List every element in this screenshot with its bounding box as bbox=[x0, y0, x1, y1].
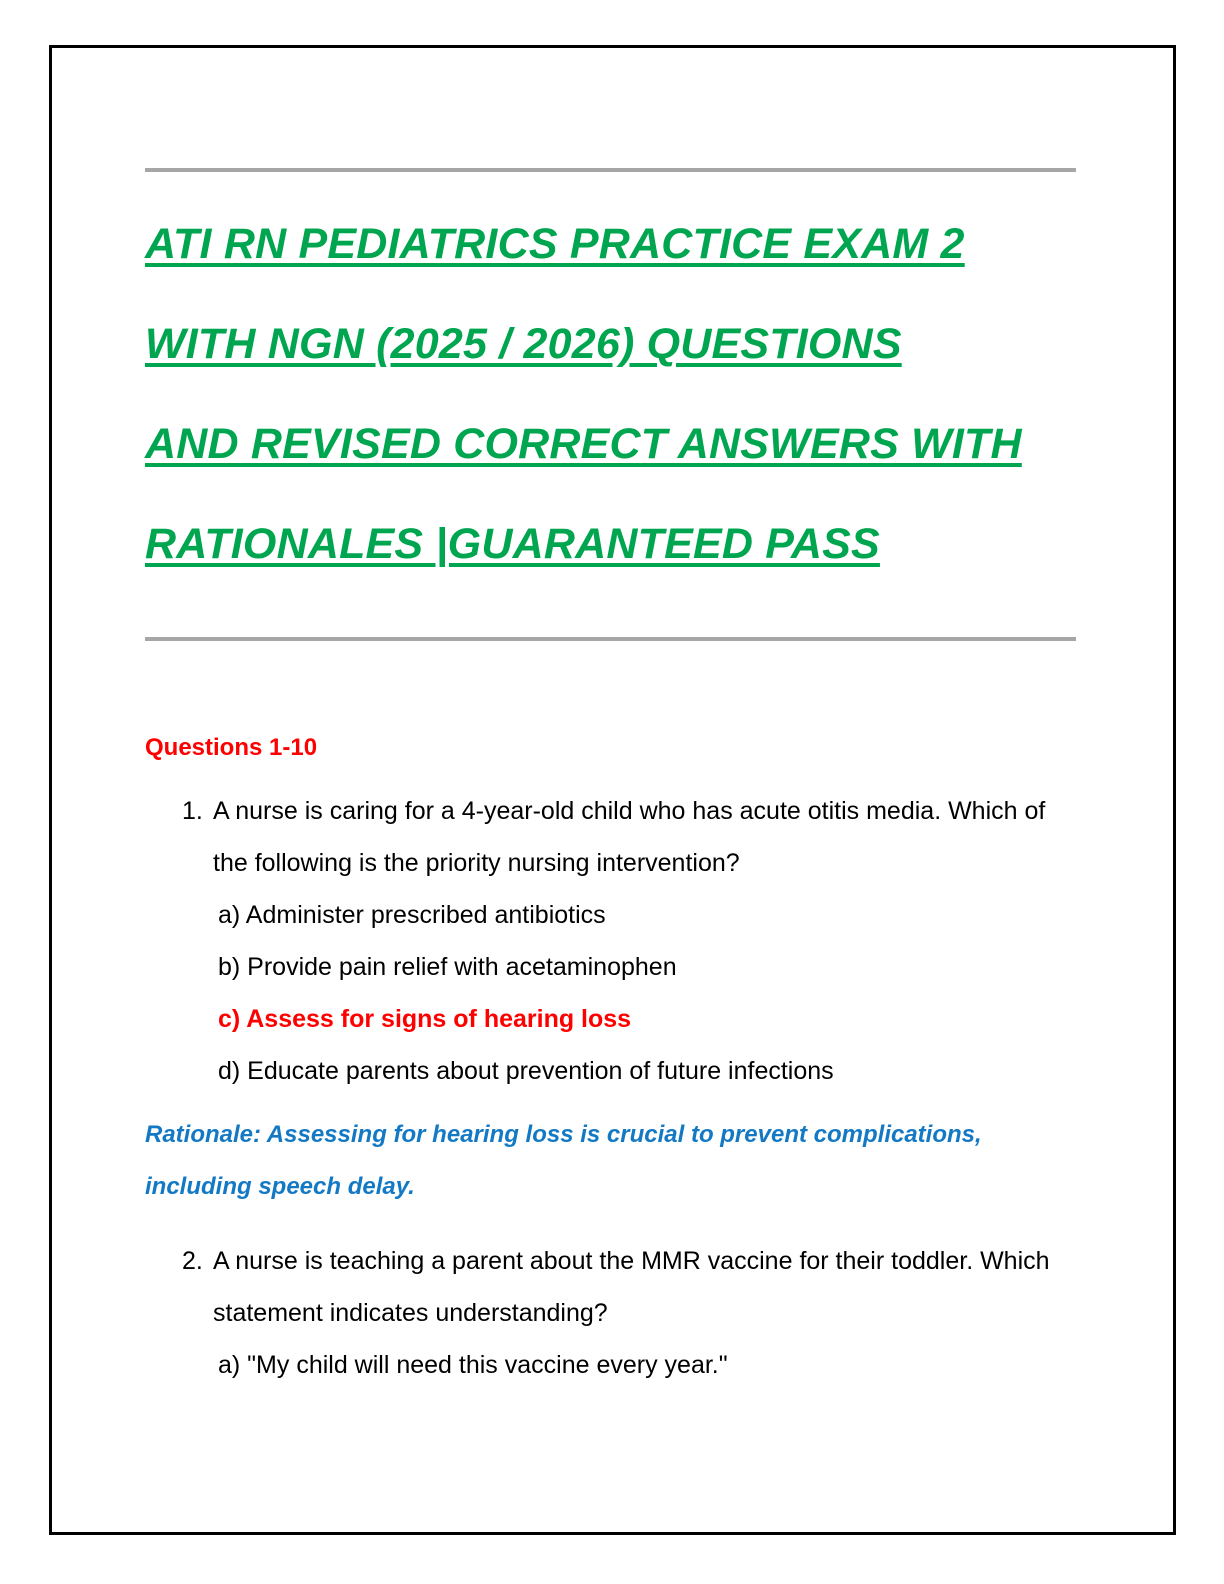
title-line-3-text: AND REVISED CORRECT ANSWERS WITH bbox=[145, 420, 1022, 468]
question-stem-row: 2. A nurse is teaching a parent about th… bbox=[145, 1235, 1076, 1339]
title-line-1: ATI RN PEDIATRICS PRACTICE EXAM 2 bbox=[145, 194, 1076, 294]
question-stem: A nurse is teaching a parent about the M… bbox=[213, 1235, 1075, 1339]
question-item: 1. A nurse is caring for a 4-year-old ch… bbox=[145, 785, 1076, 1213]
question-rationale: Rationale: Assessing for hearing loss is… bbox=[145, 1109, 1045, 1213]
title-top-rule bbox=[145, 168, 1076, 172]
title-line-2: WITH NGN (2025 / 2026) QUESTIONS bbox=[145, 294, 1076, 394]
document-content: ATI RN PEDIATRICS PRACTICE EXAM 2 WITH N… bbox=[145, 45, 1076, 1391]
title-bottom-rule bbox=[145, 637, 1076, 641]
title-line-4-text: RATIONALES |GUARANTEED PASS bbox=[145, 520, 880, 568]
option-a[interactable]: a) Administer prescribed antibiotics bbox=[218, 889, 1076, 941]
option-a[interactable]: a) "My child will need this vaccine ever… bbox=[218, 1339, 1076, 1391]
section-heading: Questions 1-10 bbox=[145, 733, 1076, 763]
question-item: 2. A nurse is teaching a parent about th… bbox=[145, 1235, 1076, 1391]
question-number: 2. bbox=[145, 1235, 213, 1287]
question-options: a) "My child will need this vaccine ever… bbox=[218, 1339, 1076, 1391]
question-stem-row: 1. A nurse is caring for a 4-year-old ch… bbox=[145, 785, 1076, 889]
question-stem: A nurse is caring for a 4-year-old child… bbox=[213, 785, 1075, 889]
question-number: 1. bbox=[145, 785, 213, 837]
question-options: a) Administer prescribed antibiotics b) … bbox=[218, 889, 1076, 1097]
title-line-1-text: ATI RN PEDIATRICS PRACTICE EXAM 2 bbox=[145, 220, 965, 268]
option-c[interactable]: c) Assess for signs of hearing loss bbox=[218, 993, 1076, 1045]
option-d[interactable]: d) Educate parents about prevention of f… bbox=[218, 1045, 1076, 1097]
option-b[interactable]: b) Provide pain relief with acetaminophe… bbox=[218, 941, 1076, 993]
document-title: ATI RN PEDIATRICS PRACTICE EXAM 2 WITH N… bbox=[145, 194, 1076, 594]
document-page: ATI RN PEDIATRICS PRACTICE EXAM 2 WITH N… bbox=[0, 0, 1224, 1584]
title-line-2-text: WITH NGN (2025 / 2026) QUESTIONS bbox=[145, 320, 902, 368]
title-line-3: AND REVISED CORRECT ANSWERS WITH bbox=[145, 394, 1076, 494]
title-line-4: RATIONALES |GUARANTEED PASS bbox=[145, 494, 1076, 594]
